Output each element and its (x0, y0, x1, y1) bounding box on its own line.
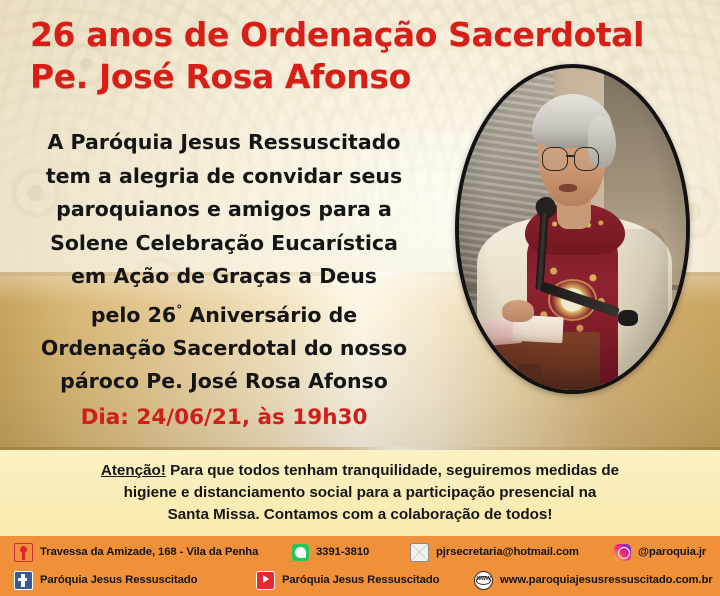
photo-eyeglass-left (542, 147, 568, 172)
anniversary-prefix: pelo 26 (91, 302, 176, 326)
contact-phone-label: 3391-3810 (316, 546, 369, 558)
notice-line-2: higiene e distanciamento social para a p… (30, 482, 690, 504)
facebook-icon (14, 571, 33, 590)
contact-facebook[interactable]: Paróquia Jesus Ressuscitado (14, 566, 197, 594)
contact-facebook-label: Paróquia Jesus Ressuscitado (40, 574, 197, 586)
contact-address[interactable]: Travessa da Amizade, 168 - Vila da Penha (14, 538, 258, 566)
invitation-line-4: Solene Celebração Eucarística (8, 227, 440, 261)
contact-instagram[interactable]: @paroquia.jr (614, 538, 706, 566)
contact-youtube[interactable]: Paróquia Jesus Ressuscitado (256, 566, 439, 594)
contact-instagram-label: @paroquia.jr (638, 546, 706, 558)
whatsapp-icon (292, 544, 309, 561)
instagram-icon (614, 544, 631, 561)
photo-mouth (559, 184, 577, 192)
contact-row-primary: Travessa da Amizade, 168 - Vila da Penha… (0, 538, 720, 566)
website-icon-glyph: WWW (475, 577, 492, 582)
invitation-line-2: tem a alegria de convidar seus (8, 160, 440, 194)
contact-footer: Travessa da Amizade, 168 - Vila da Penha… (0, 536, 720, 596)
contact-whatsapp[interactable]: 3391-3810 (292, 538, 369, 566)
anniversary-suffix: Aniversário de (182, 302, 357, 326)
website-icon: WWW (474, 571, 493, 590)
contact-youtube-label: Paróquia Jesus Ressuscitado (282, 574, 439, 586)
contact-website[interactable]: WWW www.paroquiajesusressuscitado.com.br (474, 566, 713, 594)
contact-email-label: pjrsecretaria@hotmail.com (436, 546, 579, 558)
contact-website-label: www.paroquiajesusressuscitado.com.br (500, 574, 713, 586)
priest-photo-frame (455, 64, 690, 394)
youtube-icon (256, 571, 275, 590)
contact-email[interactable]: pjrsecretaria@hotmail.com (410, 538, 579, 566)
location-pin-icon (14, 543, 33, 562)
notice-line-1-rest: Para que todos tenham tranquilidade, seg… (166, 462, 619, 479)
notice-line-1: Atenção! Para que todos tenham tranquili… (30, 460, 690, 482)
invitation-line-1: A Paróquia Jesus Ressuscitado (8, 126, 440, 160)
contact-row-social: Paróquia Jesus Ressuscitado Paróquia Jes… (0, 566, 720, 594)
email-icon (410, 543, 429, 562)
invitation-poster: 26 anos de Ordenação Sacerdotal Pe. José… (0, 0, 720, 596)
invitation-line-5: em Ação de Graças a Deus (8, 260, 440, 294)
photo-lectern-post (518, 364, 541, 394)
health-notice-banner: Atenção! Para que todos tenham tranquili… (0, 450, 720, 536)
photo-hand (502, 300, 534, 323)
health-notice-text: Atenção! Para que todos tenham tranquili… (30, 460, 690, 526)
invitation-line-7: pároco Pe. José Rosa Afonso (8, 365, 440, 399)
priest-photo (455, 64, 690, 394)
invitation-anniversary-line: pelo 26° Aniversário de (8, 294, 440, 332)
invitation-line-6: Ordenação Sacerdotal do nosso (8, 332, 440, 366)
photo-microphone-base (618, 310, 638, 326)
notice-line-3: Santa Missa. Contamos com a colaboração … (30, 504, 690, 526)
invitation-line-3: paroquianos e amigos para a (8, 193, 440, 227)
invitation-text: A Paróquia Jesus Ressuscitado tem a aleg… (8, 126, 440, 434)
notice-heading: Atenção! (101, 462, 166, 479)
title-line-1: 26 anos de Ordenação Sacerdotal (30, 14, 700, 56)
contact-address-label: Travessa da Amizade, 168 - Vila da Penha (40, 546, 258, 558)
photo-eyeglass-bridge (566, 155, 575, 157)
event-date-time: Dia: 24/06/21, às 19h30 (8, 401, 440, 435)
photo-eyeglass-right (574, 147, 600, 172)
